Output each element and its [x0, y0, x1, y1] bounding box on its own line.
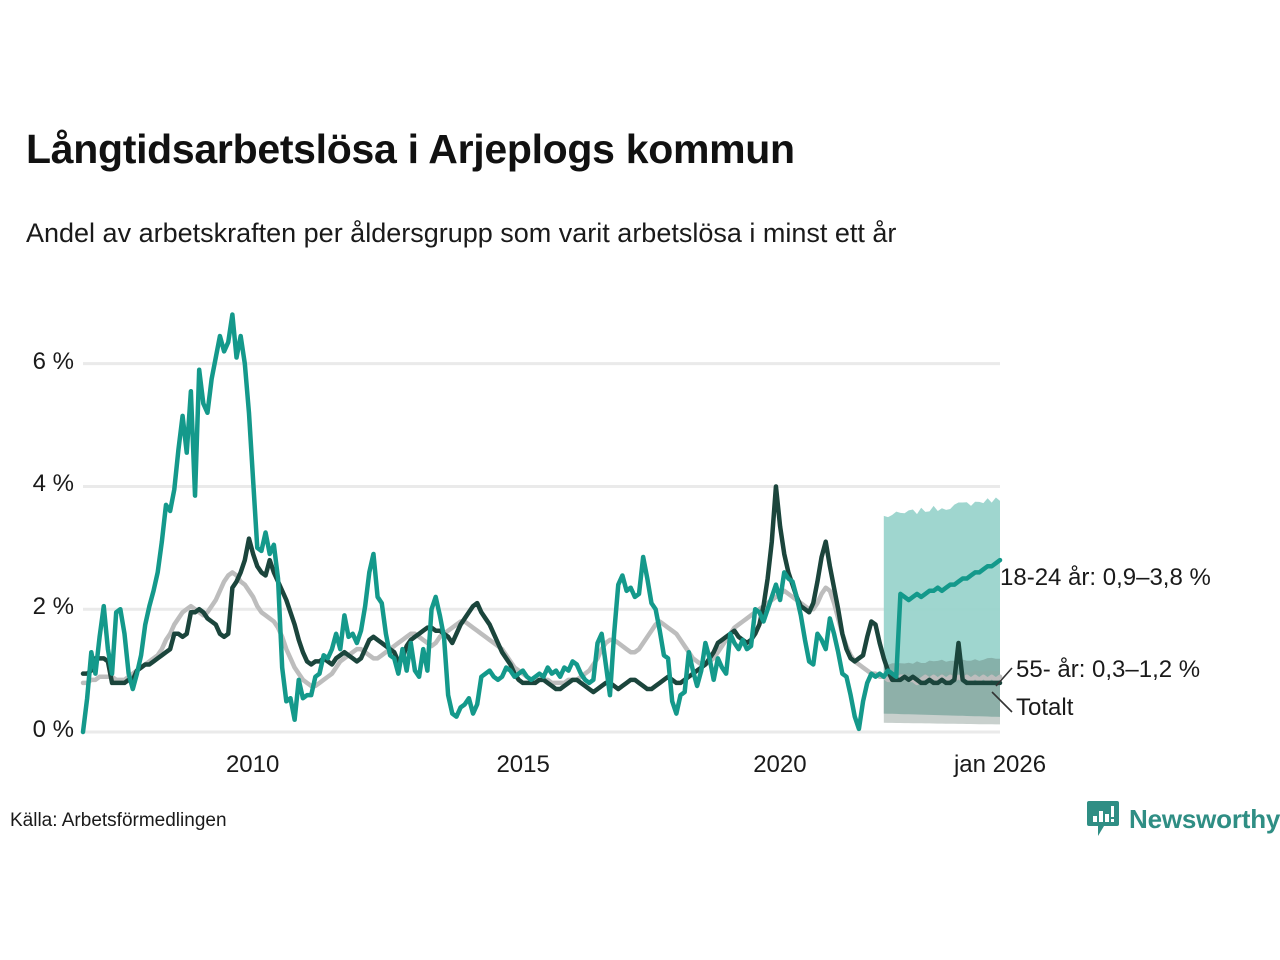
logo-wordmark: Newsworthy — [1129, 806, 1280, 832]
x-axis-tick-2: 2020 — [753, 751, 806, 779]
y-axis-tick-2: 4 % — [0, 470, 74, 498]
x-axis-tick-0: 2010 — [226, 751, 279, 779]
bar-chart-speech-bubble-icon — [1086, 800, 1120, 838]
y-axis-tick-1: 2 % — [0, 593, 74, 621]
source-note: Källa: Arbetsförmedlingen — [10, 810, 227, 832]
series-label-total: Totalt — [1016, 694, 1073, 722]
newsworthy-logo: Newsworthy — [1086, 800, 1280, 838]
x-axis-tick-1: 2015 — [496, 751, 549, 779]
series-label-55plus: 55- år: 0,3–1,2 % — [1016, 656, 1200, 684]
y-axis-tick-3: 6 % — [0, 348, 74, 376]
y-axis-tick-0: 0 % — [0, 716, 74, 744]
series-label-18-24: 18-24 år: 0,9–3,8 % — [1000, 564, 1211, 592]
x-axis-tick-3: jan 2026 — [954, 751, 1046, 779]
chart-container: Långtidsarbetslösa i Arjeplogs kommun An… — [0, 0, 1280, 960]
